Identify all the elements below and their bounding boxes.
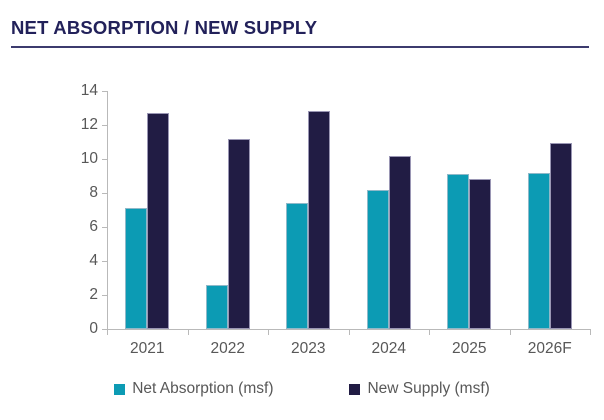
chart-legend: Net Absorption (msf)New Supply (msf) [0,380,604,398]
y-axis-tick-label: 10 [81,150,98,168]
legend-swatch-icon [114,384,125,395]
x-axis-tick-mark [188,329,189,335]
y-axis-tick-label: 2 [89,286,98,304]
bar [147,113,169,329]
bar [308,111,330,329]
bar [550,143,572,329]
legend-item[interactable]: New Supply (msf) [349,380,489,398]
bar [469,179,491,329]
y-axis-tick-mark [102,295,107,296]
bar [528,173,550,329]
x-axis-tick-mark [429,329,430,335]
bar-chart: 14121086420 202120222023202420252026F [0,72,604,420]
y-axis-tick-label: 4 [89,252,98,270]
y-axis-tick-label: 12 [81,116,98,134]
y-axis-tick-mark [102,125,107,126]
bar [228,139,250,329]
bar [367,190,389,329]
legend-swatch-icon [349,384,360,395]
bar [286,203,308,329]
x-axis-tick-mark [510,329,511,335]
bar [447,174,469,329]
bar [389,156,411,329]
x-axis-tick-mark [107,329,108,335]
y-axis-tick-label: 8 [89,184,98,202]
x-axis-tick-mark [349,329,350,335]
bar [125,208,147,329]
y-axis-tick-mark [102,227,107,228]
x-axis-category-label: 2022 [211,340,245,358]
y-axis-tick-mark [102,91,107,92]
x-axis-category-label: 2023 [291,340,325,358]
bar [206,285,228,329]
legend-item[interactable]: Net Absorption (msf) [114,380,273,398]
y-axis-tick-mark [102,261,107,262]
chart-title-block: NET ABSORPTION / NEW SUPPLY [11,17,589,48]
x-axis-category-label: 2024 [372,340,406,358]
title-underline-rule [11,46,589,48]
legend-item-label: Net Absorption (msf) [132,380,273,398]
plot-area: 14121086420 [107,91,590,329]
y-axis-tick-label: 14 [81,82,98,100]
chart-page: NET ABSORPTION / NEW SUPPLY 14121086420 … [0,0,604,420]
page-title: NET ABSORPTION / NEW SUPPLY [11,17,589,39]
x-axis-category-label: 2025 [452,340,486,358]
y-axis-tick-label: 6 [89,218,98,236]
legend-item-label: New Supply (msf) [367,380,489,398]
x-axis-tick-mark [590,329,591,335]
y-axis-tick-mark [102,193,107,194]
x-axis-category-label: 2021 [130,340,164,358]
y-axis-tick-label: 0 [89,320,98,338]
y-axis-tick-mark [102,159,107,160]
x-axis-tick-mark [268,329,269,335]
x-axis-category-label: 2026F [528,340,572,358]
